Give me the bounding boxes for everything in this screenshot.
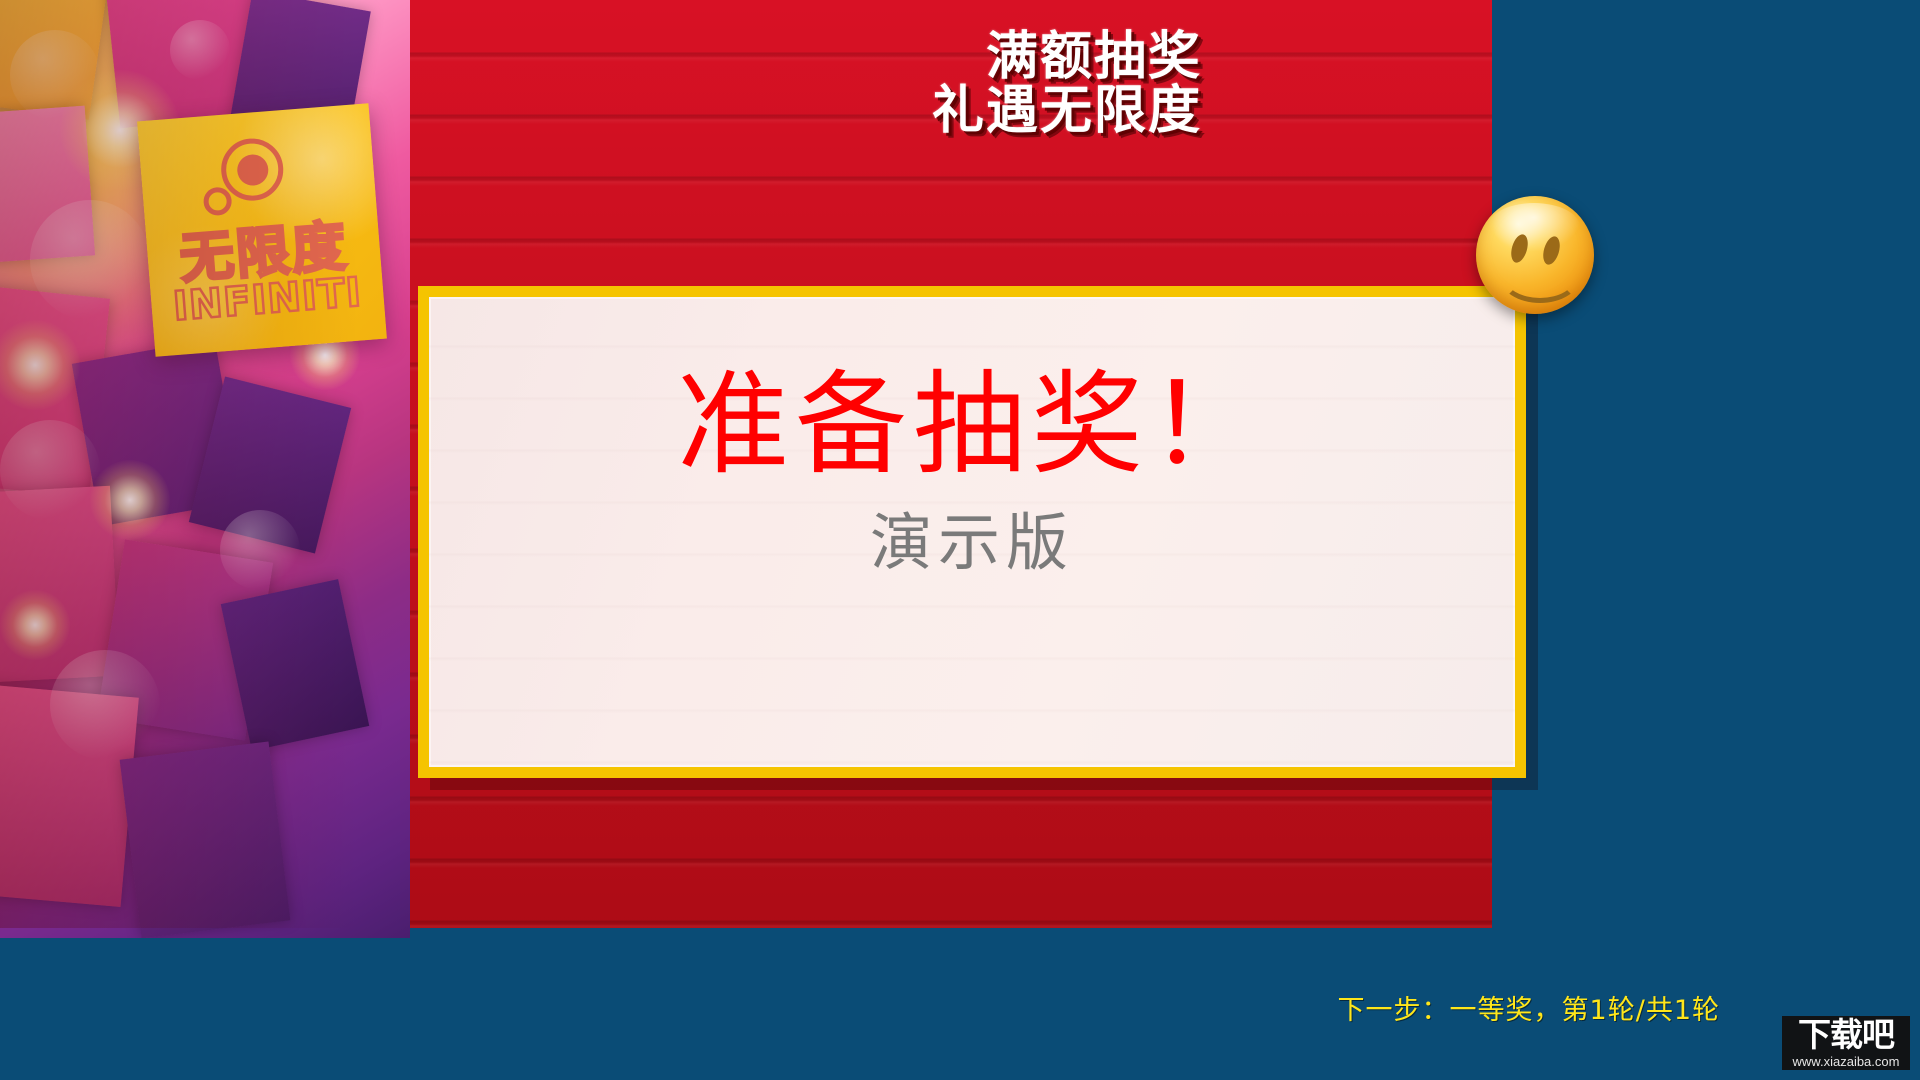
deco-bokeh [10,30,100,120]
brand-logo-card: 无限度 INFINITI [137,103,387,356]
deco-bokeh [170,20,230,80]
main-content-card: 准备抽奖！ 演示版 [418,286,1526,778]
watermark-url: www.xiazaiba.com [1782,1055,1910,1069]
page-title: 准备抽奖！ [429,369,1515,481]
site-watermark: 下载吧 www.xiazaiba.com [1782,1016,1910,1070]
presentation-stage: 无限度 INFINITI 满额抽奖 礼遇无限度 准备抽奖！ 演示版 下一步：一等… [0,0,1920,1080]
deco-bokeh [0,420,100,520]
smiley-face-icon [1476,196,1594,314]
watermark-brand: 下载吧 [1782,1016,1910,1054]
logo-ring-small-icon [203,186,233,216]
campaign-headline: 满额抽奖 礼遇无限度 [932,30,1202,138]
next-step-status: 下一步：一等奖，第1轮/共1轮 [1338,988,1720,1027]
campaign-headline-line-2: 礼遇无限度 [932,84,1202,138]
deco-bokeh [30,200,150,320]
deco-bokeh [50,650,160,760]
deco-cube [120,742,291,938]
smiley-highlight [1488,203,1580,251]
smiley-mouth-icon [1500,251,1580,303]
campaign-headline-line-1: 满额抽奖 [932,30,1202,84]
page-subtitle: 演示版 [429,512,1515,574]
main-content-card-wrapper: 准备抽奖！ 演示版 [418,286,1526,778]
infinity-circles-logo-icon [197,132,289,224]
deco-bokeh [220,510,300,590]
